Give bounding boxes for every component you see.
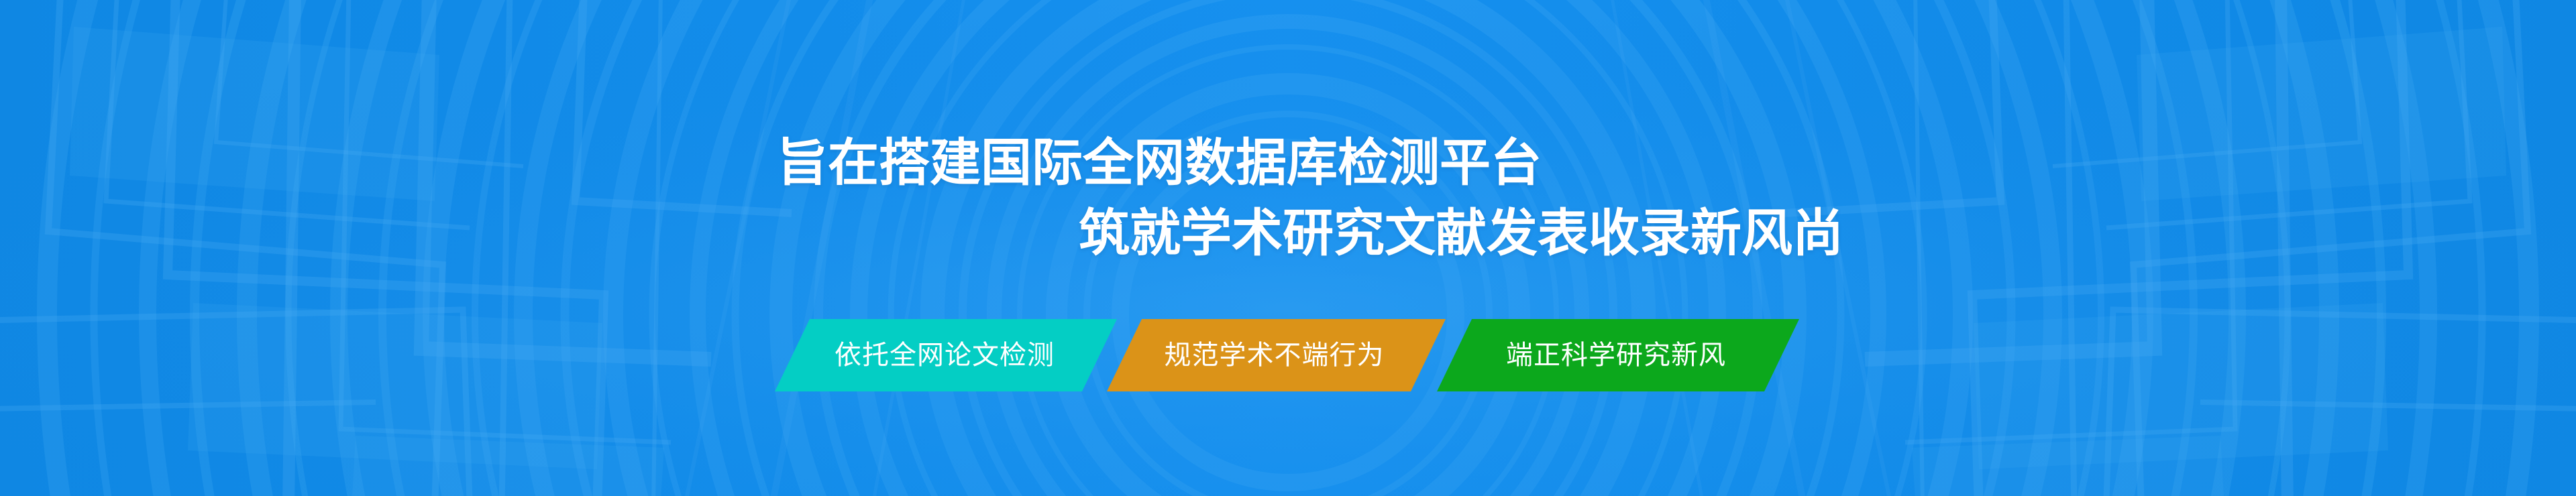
feature-tag-misconduct[interactable]: 规范学术不端行为 [1107,319,1446,391]
feature-tag-label: 规范学术不端行为 [1165,342,1385,369]
promo-banner: 旨在搭建国际全网数据库检测平台 筑就学术研究文献发表收录新风尚 依托全网论文检测… [0,0,2576,496]
background-decoration [0,0,2576,496]
feature-tag-paper-detection[interactable]: 依托全网论文检测 [775,319,1117,391]
feature-tag-label: 依托全网论文检测 [835,342,1055,369]
feature-tag-strip: 依托全网论文检测 规范学术不端行为 端正科学研究新风 [775,319,1808,391]
feature-tag-label: 端正科学研究新风 [1506,342,1726,369]
feature-tag-research-ethos[interactable]: 端正科学研究新风 [1437,319,1799,391]
